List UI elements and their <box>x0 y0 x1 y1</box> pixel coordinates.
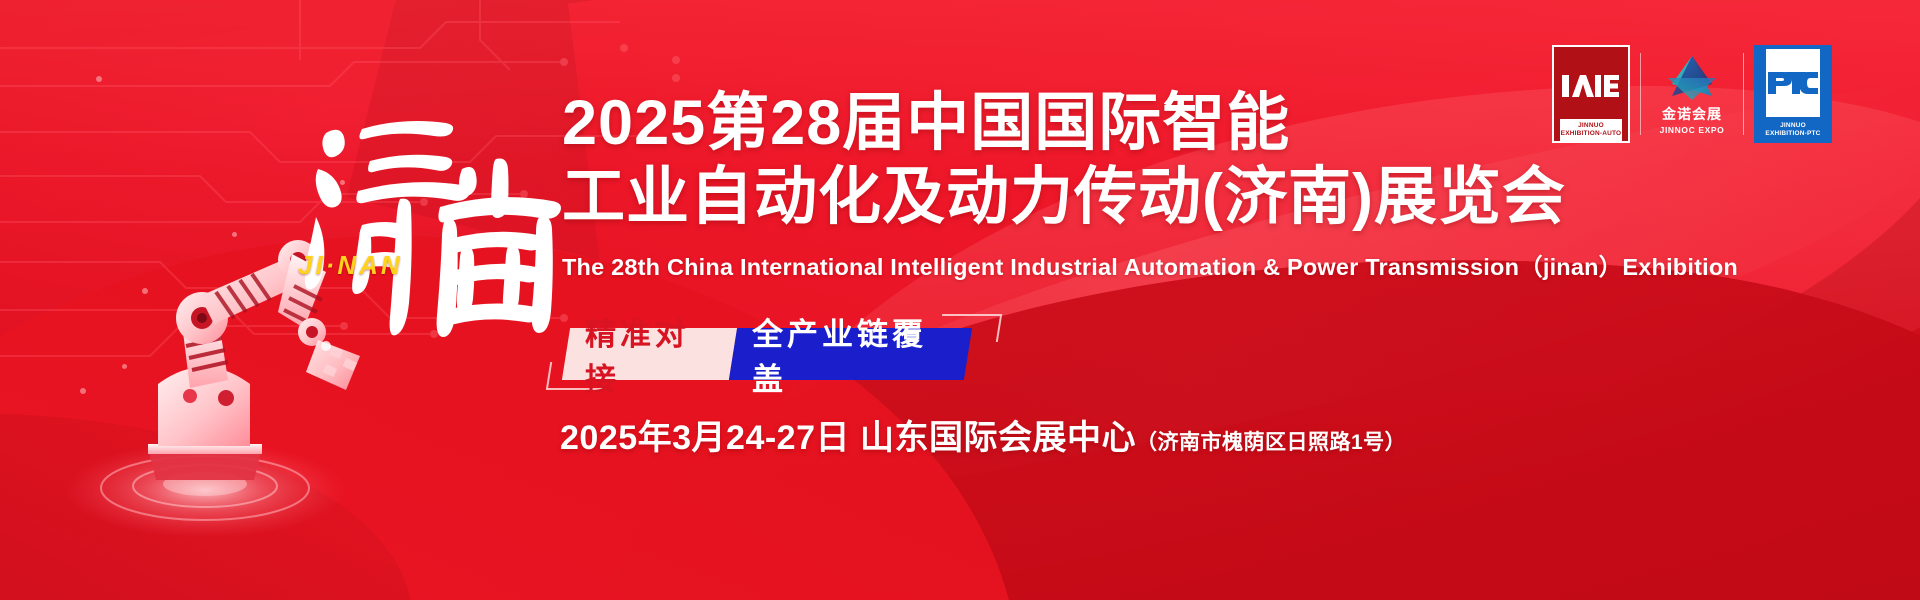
exhibition-banner: JI·NAN 2025第28届中国国际智能 工业自动化及动力传动(济南)展览会 … <box>0 0 1920 600</box>
iaie-caption-line1: JINNUO <box>1561 122 1622 130</box>
ptc-caption-line1: JINNUO <box>1765 122 1820 130</box>
date-venue-line: 2025年3月24-27日 山东国际会展中心（济南市槐荫区日照路1号） <box>560 410 1406 459</box>
logo-divider-right <box>1743 53 1744 135</box>
tagline-bar: 精准对接 全产业链覆盖 <box>562 328 972 380</box>
title-line-2: 工业自动化及动力传动(济南)展览会 <box>562 160 1762 234</box>
title-english-subtitle: The 28th China International Intelligent… <box>562 248 1762 282</box>
jinan-calligraphy <box>300 95 570 340</box>
jinan-pinyin-label: JI·NAN <box>298 250 403 281</box>
tagline-right-segment: 全产业链覆盖 <box>729 328 972 380</box>
ptc-caption: JINNUO EXHIBITION-PTC <box>1764 119 1821 141</box>
iaie-wordmark-icon <box>1562 47 1620 119</box>
tagline-left-segment: 精准对接 <box>562 328 737 380</box>
tagline-block: 精准对接 全产业链覆盖 <box>548 318 968 402</box>
iaie-glyph-icon <box>1562 73 1620 99</box>
iaie-caption-line2: EXHIBITION-AUTO <box>1561 130 1622 138</box>
iaie-caption: JINNUO EXHIBITION-AUTO <box>1560 119 1623 141</box>
logo-ptc[interactable]: JINNUO EXHIBITION-PTC <box>1754 45 1832 143</box>
date-venue-main: 2025年3月24-27日 山东国际会展中心 <box>560 419 1136 457</box>
ptc-glyph-icon <box>1766 69 1820 97</box>
jinan-calligraphy-icon <box>300 95 570 340</box>
logo-iaie[interactable]: JINNUO EXHIBITION-AUTO <box>1552 45 1630 143</box>
jinnoc-chinese-label: 金诺会展 <box>1662 104 1722 124</box>
date-venue-address: （济南市槐荫区日照路1号） <box>1136 431 1406 454</box>
jinnoc-english-label: JINNOC EXPO <box>1660 125 1725 135</box>
logo-jinnoc[interactable]: 金诺会展 JINNOC EXPO <box>1651 45 1733 143</box>
logo-divider-left <box>1640 53 1641 135</box>
tagline-right-text: 全产业链覆盖 <box>752 309 948 399</box>
ptc-wordmark-icon <box>1766 49 1820 117</box>
ptc-caption-line2: EXHIBITION-PTC <box>1765 130 1820 138</box>
logo-group: JINNUO EXHIBITION-AUTO <box>1552 45 1832 143</box>
sparkle-dot <box>96 76 102 82</box>
tagline-left-text: 精准对接 <box>585 309 716 399</box>
jinnoc-star-icon <box>1664 54 1720 102</box>
